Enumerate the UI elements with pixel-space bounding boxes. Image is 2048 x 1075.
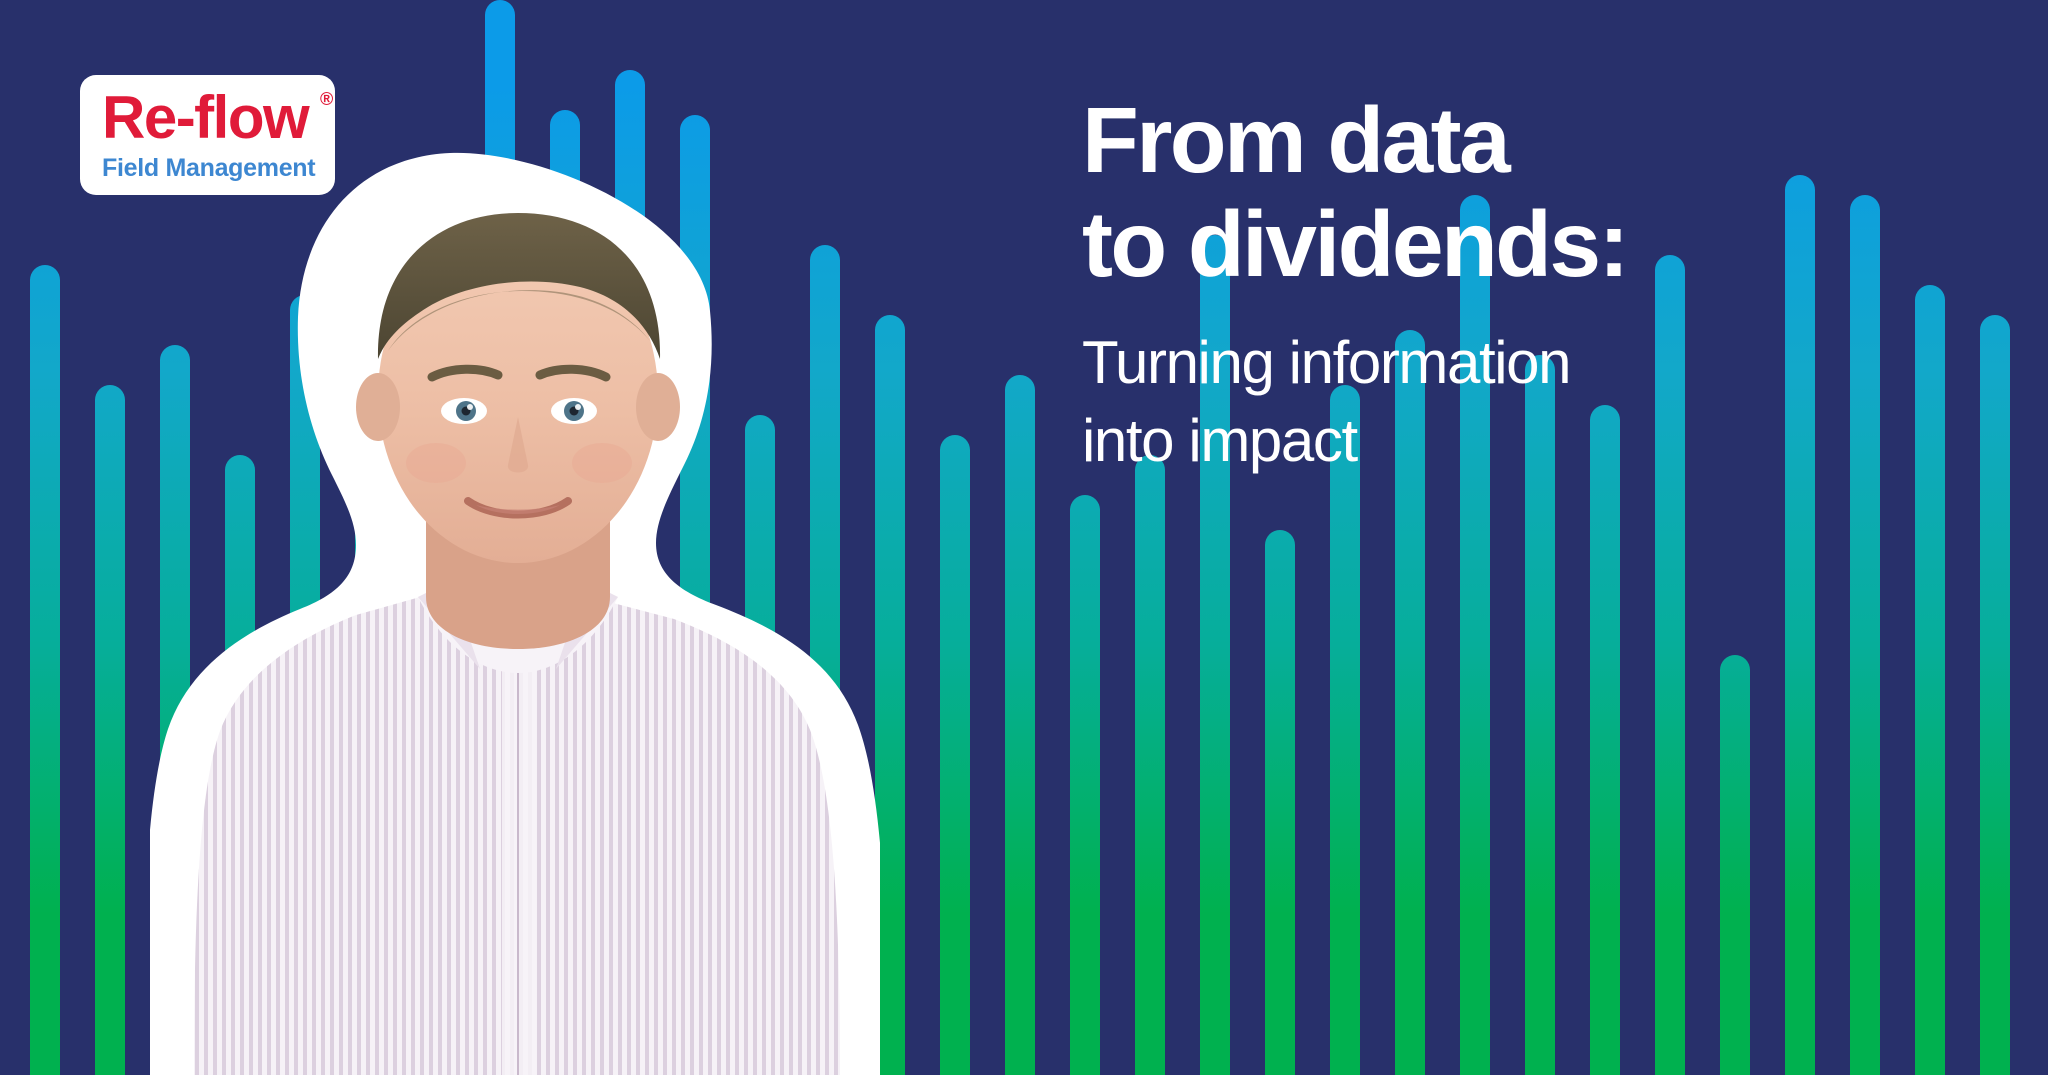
logo-wordmark: Re-flow® bbox=[102, 89, 315, 148]
bar-chart-bar bbox=[420, 195, 450, 1075]
bar-chart-bar bbox=[550, 110, 580, 1075]
bar-chart-bar bbox=[1590, 405, 1620, 1075]
bar-chart-bar bbox=[160, 345, 190, 1075]
bar-chart-bar bbox=[810, 245, 840, 1075]
bar-chart-bar bbox=[745, 415, 775, 1075]
bar-chart-bar bbox=[1980, 315, 2010, 1075]
bar-chart-bar bbox=[940, 435, 970, 1075]
bar-chart-bar bbox=[680, 115, 710, 1075]
subtitle-line-2: into impact bbox=[1082, 402, 1902, 480]
bar-chart-bar bbox=[1720, 655, 1750, 1075]
headline-line-1: From data bbox=[1082, 88, 1902, 192]
bar-chart-bar bbox=[1915, 285, 1945, 1075]
bar-chart-bar bbox=[1265, 530, 1295, 1075]
headline: From data to dividends: bbox=[1082, 88, 1902, 296]
bar-chart-bar bbox=[1005, 375, 1035, 1075]
registered-trademark-icon: ® bbox=[320, 91, 333, 109]
bar-chart-bar bbox=[95, 385, 125, 1075]
logo-wordmark-text: Re-flow bbox=[102, 84, 308, 151]
bar-chart-bar bbox=[225, 455, 255, 1075]
promo-banner: Re-flow® Field Management From data to d… bbox=[0, 0, 2048, 1075]
bar-chart-bar bbox=[875, 315, 905, 1075]
subtitle-line-1: Turning information bbox=[1082, 324, 1902, 402]
bar-chart-bar bbox=[1135, 455, 1165, 1075]
bar-chart-bar bbox=[355, 505, 385, 1075]
copy-block: From data to dividends: Turning informat… bbox=[1082, 88, 1902, 480]
bar-chart-bar bbox=[615, 70, 645, 1075]
headline-line-2: to dividends: bbox=[1082, 192, 1902, 296]
bar-chart-bar bbox=[1070, 495, 1100, 1075]
bar-chart-bar bbox=[290, 295, 320, 1075]
re-flow-logo[interactable]: Re-flow® Field Management bbox=[80, 75, 335, 195]
logo-tagline: Field Management bbox=[102, 154, 315, 183]
bar-chart-bar bbox=[1330, 385, 1360, 1075]
bar-chart-bar bbox=[30, 265, 60, 1075]
subtitle: Turning information into impact bbox=[1082, 324, 1902, 480]
bar-chart-bar bbox=[485, 0, 515, 1075]
